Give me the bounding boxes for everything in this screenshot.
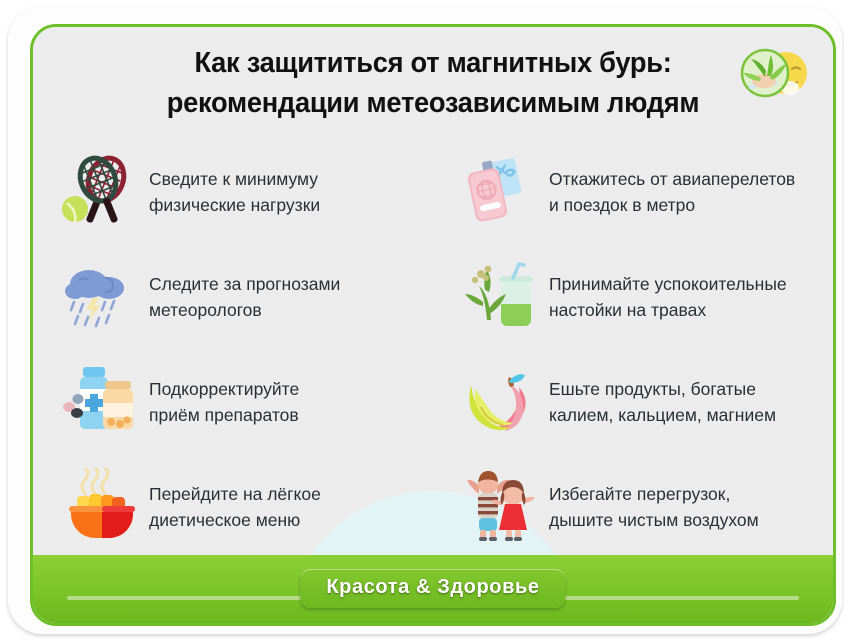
list-item: Сведите к минимуму физические нагрузки xyxy=(33,139,433,244)
list-item: Ешьте продукты, богатые калием, кальцием… xyxy=(433,349,833,454)
list-item-text: Следите за прогнозами метеорологов xyxy=(143,271,340,323)
list-item: Откажитесь от авиаперелетов и поездок в … xyxy=(433,139,833,244)
footer-bar: Красота & Здоровье xyxy=(33,555,833,623)
list-item-text: Перейдите на лёгкое диетическое меню xyxy=(143,481,321,533)
list-item-text: Ешьте продукты, богатые калием, кальцием… xyxy=(543,376,776,428)
list-item-line-1: Откажитесь от авиаперелетов xyxy=(549,166,795,192)
list-item: Следите за прогнозами метеорологов xyxy=(33,244,433,349)
list-item-line-1: Избегайте перегрузок, xyxy=(549,481,759,507)
herbal-drink-icon xyxy=(461,258,543,336)
tennis-rackets-icon xyxy=(61,153,143,231)
list-item-line-2: калием, кальцием, магнием xyxy=(549,402,776,428)
two-children-icon xyxy=(461,468,543,546)
list-item-text: Сведите к минимуму физические нагрузки xyxy=(143,166,320,218)
poster-header: Как защититься от магнитных бурь: рекоме… xyxy=(33,43,833,123)
list-item-text: Принимайте успокоительные настойки на тр… xyxy=(543,271,787,323)
poster-card: Как защититься от магнитных бурь: рекоме… xyxy=(8,6,842,634)
footer-rule-left xyxy=(67,596,307,600)
brand-badge-text: Красота & Здоровье xyxy=(326,576,539,599)
list-item-text: Подкорректируйте приём препаратов xyxy=(143,376,299,428)
list-item-line-2: диетическое меню xyxy=(149,507,321,533)
list-item-line-1: Ешьте продукты, богатые xyxy=(549,376,776,402)
list-item: Перейдите на лёгкое диетическое меню xyxy=(33,454,433,559)
medicine-bottles-icon xyxy=(61,363,143,441)
list-item-line-1: Подкорректируйте xyxy=(149,376,299,402)
list-item-line-2: дышите чистым воздухом xyxy=(549,507,759,533)
list-item-line-1: Следите за прогнозами xyxy=(149,271,340,297)
list-item-line-2: метеорологов xyxy=(149,297,340,323)
content-surface: Как защититься от магнитных бурь: рекоме… xyxy=(33,27,833,623)
page-title-line-1: Как защититься от магнитных бурь: xyxy=(57,43,809,83)
hot-food-bowl-icon xyxy=(61,468,143,546)
list-item-line-1: Сведите к минимуму xyxy=(149,166,320,192)
list-item-line-2: настойки на травах xyxy=(549,297,787,323)
herb-and-smiley-logo xyxy=(737,43,811,105)
brand-badge: Красота & Здоровье xyxy=(300,569,565,608)
list-item-line-2: физические нагрузки xyxy=(149,192,320,218)
list-item-text: Избегайте перегрузок, дышите чистым возд… xyxy=(543,481,759,533)
list-item-line-1: Перейдите на лёгкое xyxy=(149,481,321,507)
storm-cloud-rain-icon xyxy=(61,258,143,336)
list-item: Подкорректируйте приём препаратов xyxy=(33,349,433,454)
list-item-line-2: приём препаратов xyxy=(149,402,299,428)
infographic-poster: Как защититься от магнитных бурь: рекоме… xyxy=(0,0,850,642)
list-item-line-2: и поездок в метро xyxy=(549,192,795,218)
page-title-line-2: рекомендации метеозависимым людям xyxy=(57,83,809,123)
banana-apple-icon xyxy=(461,363,543,441)
list-item-line-1: Принимайте успокоительные xyxy=(549,271,787,297)
passport-tickets-icon xyxy=(461,153,543,231)
footer-rule-right xyxy=(559,596,799,600)
list-item-text: Откажитесь от авиаперелетов и поездок в … xyxy=(543,166,795,218)
green-border-frame: Как защититься от магнитных бурь: рекоме… xyxy=(30,24,836,626)
list-item: Избегайте перегрузок, дышите чистым возд… xyxy=(433,454,833,559)
list-item: Принимайте успокоительные настойки на тр… xyxy=(433,244,833,349)
recommendations-grid: Сведите к минимуму физические нагрузки xyxy=(33,139,833,559)
